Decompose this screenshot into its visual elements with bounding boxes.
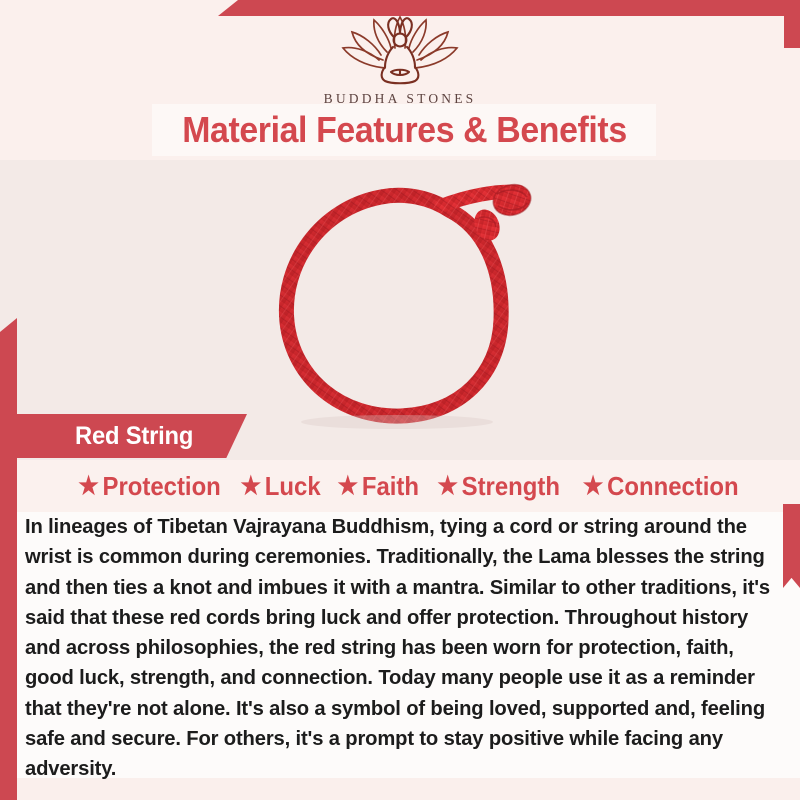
benefit-label: Protection [102,471,220,502]
star-icon: ★ [438,474,459,499]
benefit-label: Faith [362,471,419,502]
benefit-item-connection: ★ Connection [583,471,739,502]
benefit-item-faith: ★ Faith [337,471,418,502]
benefit-label: Connection [607,471,739,502]
title-banner: Material Features & Benefits [152,104,656,156]
benefit-item-protection: ★ Protection [78,471,221,502]
brand-logo: BUDDHA STONES [0,14,800,107]
red-braided-string-bracelet-icon [235,170,565,455]
benefit-item-luck: ★ Luck [240,471,320,502]
star-icon: ★ [337,474,358,499]
material-label-text: Red String [75,422,193,451]
page-title: Material Features & Benefits [182,109,627,151]
star-icon: ★ [583,474,604,499]
description-paragraph: In lineages of Tibetan Vajrayana Buddhis… [25,512,777,785]
benefits-list: ★ Protection ★ Luck ★ Faith ★ Strength ★… [17,462,800,510]
material-label-banner: Red String [17,414,247,458]
benefit-item-strength: ★ Strength [438,471,561,502]
star-icon: ★ [78,474,99,499]
star-icon: ★ [240,474,261,499]
lotus-meditation-icon [325,14,475,88]
benefit-label: Luck [265,471,321,502]
benefit-label: Strength [462,471,560,502]
